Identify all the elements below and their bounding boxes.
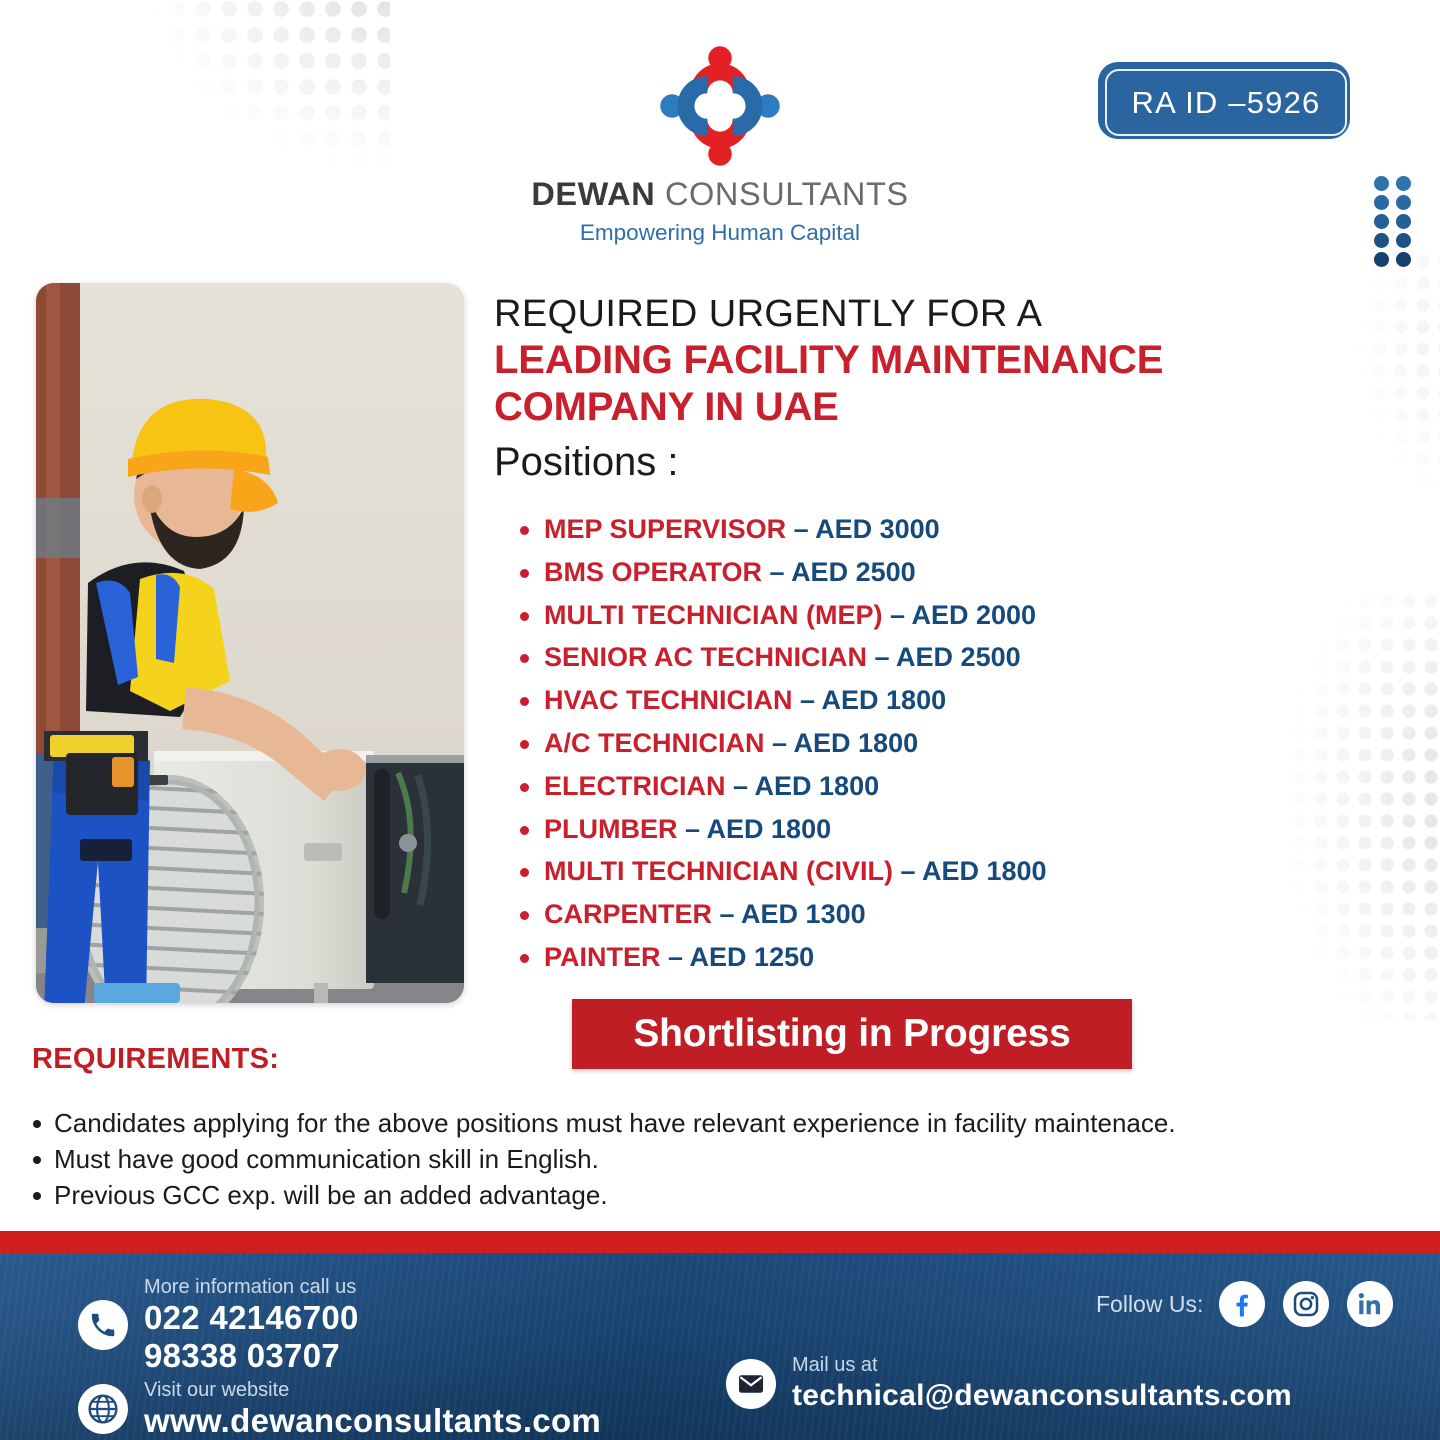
position-item: PAINTER – AED 1250 — [516, 936, 1047, 979]
brand-tagline: Empowering Human Capital — [0, 220, 1440, 246]
position-item: SENIOR AC TECHNICIAN – AED 2500 — [516, 636, 1047, 679]
position-item: ELECTRICIAN – AED 1800 — [516, 765, 1047, 808]
positions-list: MEP SUPERVISOR – AED 3000 BMS OPERATOR –… — [516, 508, 1047, 979]
requirement-item: Must have good communication skill in En… — [30, 1141, 1410, 1177]
position-item: MEP SUPERVISOR – AED 3000 — [516, 508, 1047, 551]
position-item: MULTI TECHNICIAN (MEP) – AED 2000 — [516, 594, 1047, 637]
brand-name: DEWAN CONSULTANTS — [0, 176, 1440, 213]
phone-number-2: 98338 03707 — [144, 1337, 359, 1375]
website-label: Visit our website — [144, 1378, 601, 1402]
globe-icon — [78, 1384, 128, 1434]
position-item: BMS OPERATOR – AED 2500 — [516, 551, 1047, 594]
requirement-item: Previous GCC exp. will be an added advan… — [30, 1177, 1410, 1213]
shortlisting-banner: Shortlisting in Progress — [572, 999, 1132, 1069]
headline: REQUIRED URGENTLY FOR A LEADING FACILITY… — [494, 292, 1194, 431]
requirement-item: Candidates applying for the above positi… — [30, 1105, 1410, 1141]
ra-id-badge: RA ID –5926 — [1098, 62, 1350, 139]
phone-icon — [78, 1300, 128, 1350]
position-title: PLUMBER — [544, 814, 678, 844]
position-item: PLUMBER – AED 1800 — [516, 808, 1047, 851]
footer-website-block[interactable]: Visit our website www.dewanconsultants.c… — [78, 1378, 601, 1440]
technician-photo-illustration — [36, 283, 464, 1003]
position-salary: – AED 1250 — [668, 942, 814, 972]
position-title: SENIOR AC TECHNICIAN — [544, 642, 867, 672]
position-salary: – AED 1800 — [772, 728, 918, 758]
halftone-dots-top-right — [1280, 250, 1440, 490]
position-title: MEP SUPERVISOR — [544, 514, 786, 544]
four-people-pinwheel-logo-icon — [656, 42, 784, 170]
technician-photo — [36, 283, 464, 1003]
footer-social-block: Follow Us: — [1096, 1281, 1411, 1327]
call-label: More information call us — [144, 1275, 359, 1299]
position-item: MULTI TECHNICIAN (CIVIL) – AED 1800 — [516, 850, 1047, 893]
brand-name-bold: DEWAN — [531, 176, 655, 212]
position-title: MULTI TECHNICIAN (MEP) — [544, 600, 882, 630]
globe-icon-glyph — [87, 1393, 119, 1425]
position-salary: – AED 3000 — [794, 514, 940, 544]
instagram-icon-glyph — [1291, 1289, 1321, 1319]
position-salary: – AED 2500 — [875, 642, 1021, 672]
position-title: HVAC TECHNICIAN — [544, 685, 793, 715]
headline-line-3: COMPANY IN UAE — [494, 384, 1194, 431]
halftone-dots-right — [1200, 590, 1440, 1020]
requirements-title: REQUIREMENTS: — [32, 1043, 279, 1076]
headline-line-1: REQUIRED URGENTLY FOR A — [494, 292, 1194, 337]
footer: More information call us 022 42146700 98… — [0, 1253, 1440, 1440]
envelope-icon-glyph — [736, 1369, 766, 1399]
website-url[interactable]: www.dewanconsultants.com — [144, 1402, 601, 1440]
facebook-icon[interactable] — [1219, 1281, 1265, 1327]
position-title: ELECTRICIAN — [544, 771, 726, 801]
position-salary: – AED 1800 — [685, 814, 831, 844]
position-title: BMS OPERATOR — [544, 557, 762, 587]
position-salary: – AED 1800 — [733, 771, 879, 801]
footer-phone-block[interactable]: More information call us 022 42146700 98… — [78, 1275, 359, 1375]
facebook-icon-glyph — [1227, 1289, 1257, 1319]
follow-us-label: Follow Us: — [1096, 1291, 1203, 1318]
envelope-icon — [726, 1359, 776, 1409]
email-address[interactable]: technical@dewanconsultants.com — [792, 1377, 1292, 1415]
instagram-icon[interactable] — [1283, 1281, 1329, 1327]
position-salary: – AED 2500 — [770, 557, 916, 587]
position-title: PAINTER — [544, 942, 661, 972]
position-title: A/C TECHNICIAN — [544, 728, 765, 758]
position-item: A/C TECHNICIAN – AED 1800 — [516, 722, 1047, 765]
position-title: CARPENTER — [544, 899, 712, 929]
positions-label: Positions : — [494, 440, 679, 485]
linkedin-icon[interactable] — [1347, 1281, 1393, 1327]
mail-label: Mail us at — [792, 1353, 1292, 1377]
shortlisting-banner-text: Shortlisting in Progress — [633, 1012, 1070, 1056]
brand-name-light: CONSULTANTS — [665, 176, 909, 212]
phone-icon-glyph — [88, 1310, 118, 1340]
headline-line-2: LEADING FACILITY MAINTENANCE — [494, 337, 1194, 384]
position-salary: – AED 1800 — [900, 856, 1046, 886]
position-salary: – AED 2000 — [890, 600, 1036, 630]
position-title: MULTI TECHNICIAN (CIVIL) — [544, 856, 893, 886]
footer-email-block[interactable]: Mail us at technical@dewanconsultants.co… — [726, 1353, 1292, 1415]
recruitment-poster: DEWAN CONSULTANTS Empowering Human Capit… — [0, 0, 1440, 1440]
linkedin-icon-glyph — [1355, 1289, 1385, 1319]
requirements-list: Candidates applying for the above positi… — [30, 1105, 1410, 1213]
ra-id-badge-label: RA ID –5926 — [1105, 69, 1347, 136]
footer-red-stripe — [0, 1231, 1440, 1253]
position-item: HVAC TECHNICIAN – AED 1800 — [516, 679, 1047, 722]
position-salary: – AED 1800 — [800, 685, 946, 715]
position-item: CARPENTER – AED 1300 — [516, 893, 1047, 936]
position-salary: – AED 1300 — [720, 899, 866, 929]
phone-number-1: 022 42146700 — [144, 1299, 359, 1337]
